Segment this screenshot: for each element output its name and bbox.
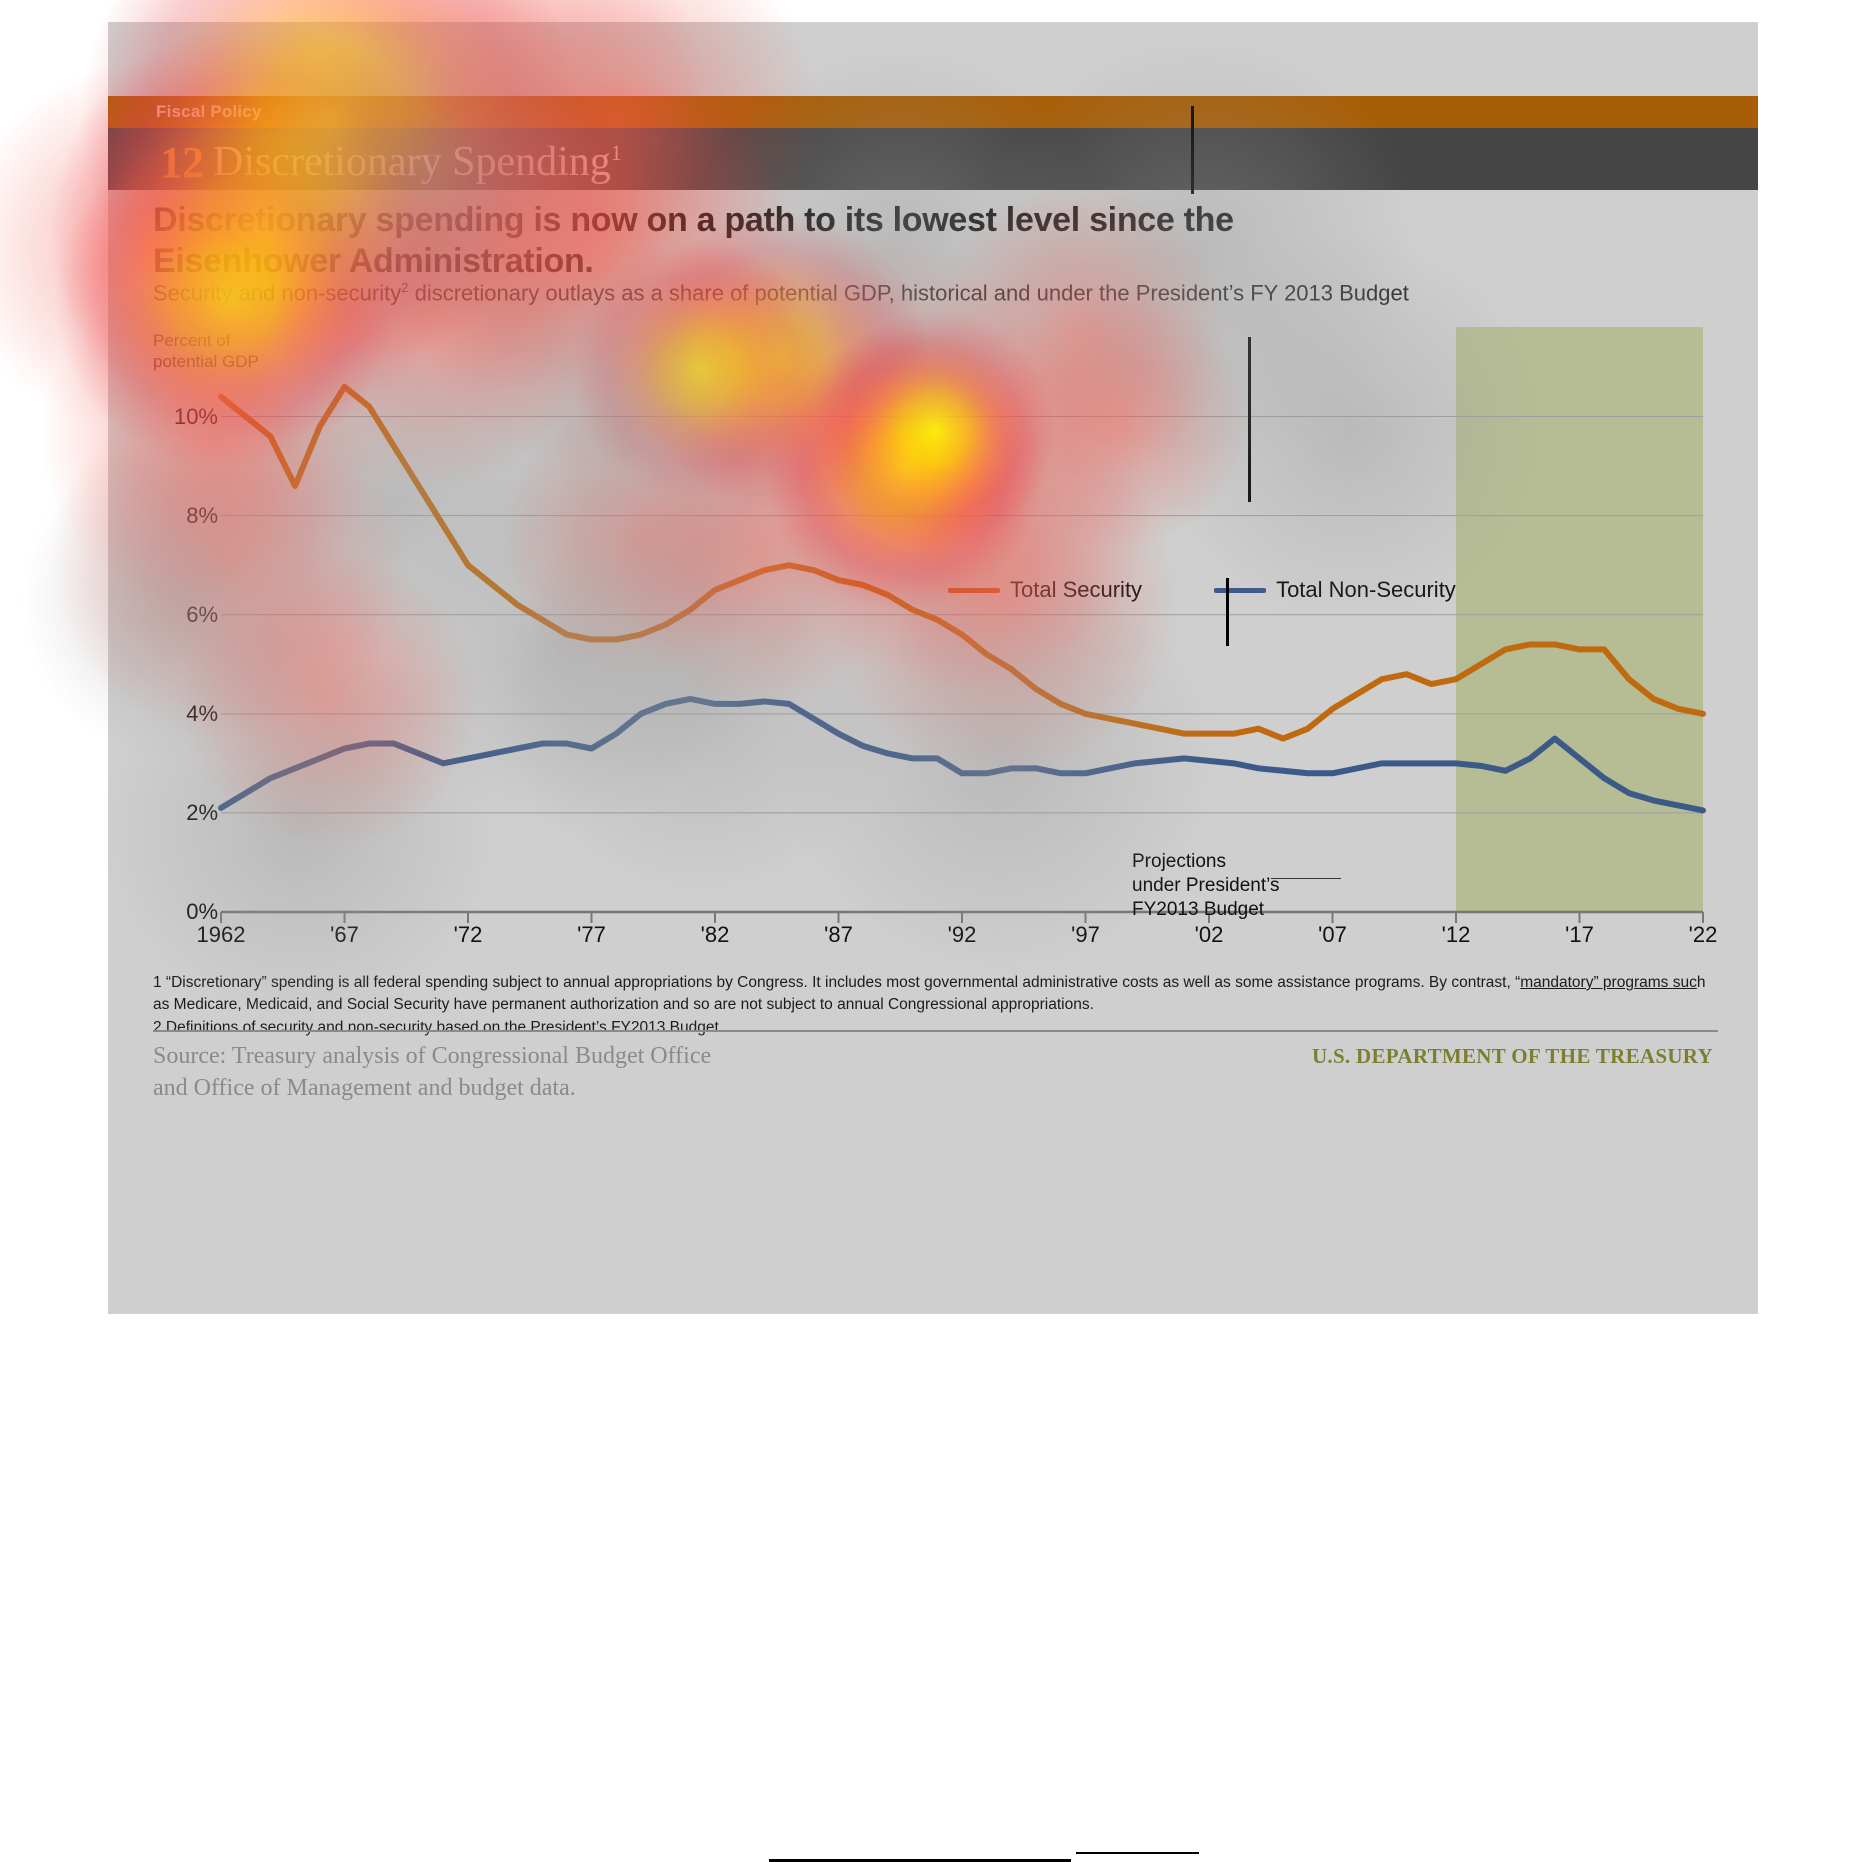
projection-leader-line <box>1271 878 1341 879</box>
projection-annotation-line3: FY2013 Budget <box>1132 898 1280 922</box>
header-accent-bar <box>108 96 1758 128</box>
projection-annotation: Projections under President’s FY2013 Bud… <box>1132 850 1280 921</box>
source-credit-line1: Source: Treasury analysis of Congression… <box>153 1040 711 1072</box>
x-axis-line <box>221 912 1703 923</box>
slide-title-footnote-ref: 1 <box>611 140 622 165</box>
footnote-1-underlined: mandatory” programs suc <box>1520 974 1697 991</box>
source-credit-line2: and Office of Management and budget data… <box>153 1072 711 1104</box>
projection-band <box>1456 327 1703 912</box>
projection-annotation-line1: Projections <box>1132 850 1280 874</box>
annotation-mark-header <box>1191 106 1194 194</box>
slide-title: Discretionary Spending1 <box>213 138 622 186</box>
line-chart <box>153 322 1713 942</box>
legend-label-total-security: Total Security <box>1010 577 1142 603</box>
legend-swatch-total-security <box>948 588 1000 593</box>
legend-swatch-total-non-security <box>1214 588 1266 593</box>
slide-canvas: Fiscal Policy 12 Discretionary Spending1… <box>108 22 1758 1314</box>
footnote-2: 2 Definitions of security and non-securi… <box>153 1017 1718 1039</box>
subheadline: Security and non-security2 discretionary… <box>153 280 1453 306</box>
annotation-underline-2 <box>1076 1852 1200 1854</box>
legend-item-total-security: Total Security <box>948 577 1142 603</box>
annotation-mark-projection <box>1226 578 1229 646</box>
department-label: U.S. DEPARTMENT OF THE TREASURY <box>1312 1044 1713 1069</box>
footer-divider <box>153 1030 1718 1032</box>
headline: Discretionary spending is now on a path … <box>153 200 1413 282</box>
chart-legend: Total Security Total Non-Security <box>948 577 1456 603</box>
source-credit: Source: Treasury analysis of Congression… <box>153 1040 711 1105</box>
annotation-mark-right <box>1248 337 1251 502</box>
footnote-1: 1 “Discretionary” spending is all federa… <box>153 972 1718 1017</box>
legend-label-total-non-security: Total Non-Security <box>1276 577 1456 603</box>
slide-title-text: Discretionary Spending <box>213 139 611 185</box>
footnote-1-pre: 1 “Discretionary” spending is all federa… <box>153 974 1520 991</box>
projection-annotation-line2: under President’s <box>1132 874 1280 898</box>
gridlines <box>221 327 1703 912</box>
legend-item-total-non-security: Total Non-Security <box>1214 577 1456 603</box>
subheadline-part-b: discretionary outlays as a share of pote… <box>408 280 1408 305</box>
